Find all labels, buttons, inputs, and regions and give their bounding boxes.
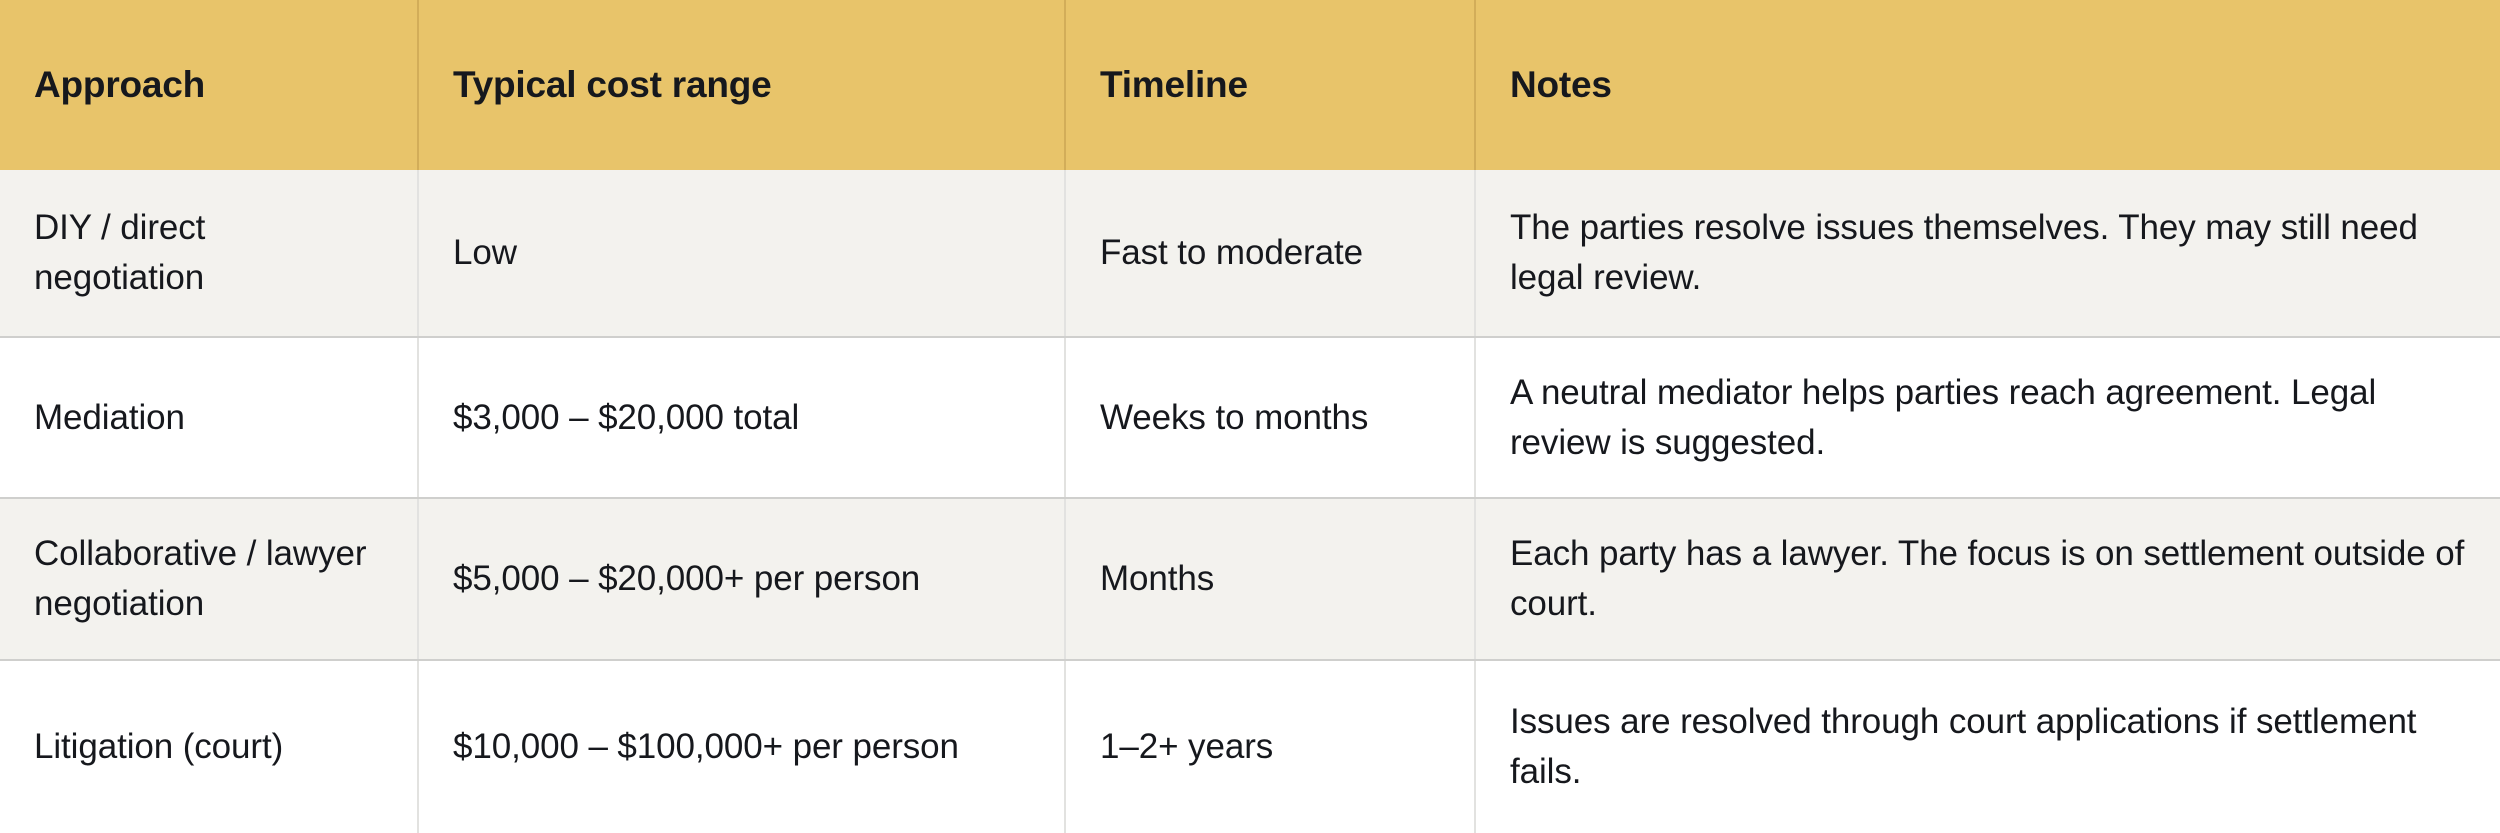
- dispute-resolution-comparison-table: Approach Typical cost range Timeline Not…: [0, 0, 2500, 833]
- table-row: Litigation (court) $10,000 – $100,000+ p…: [0, 660, 2500, 833]
- cell-notes: Issues are resolved through court applic…: [1475, 660, 2500, 833]
- cell-timeline: Fast to moderate: [1065, 170, 1475, 337]
- cell-cost: Low: [418, 170, 1065, 337]
- header-row: Approach Typical cost range Timeline Not…: [0, 0, 2500, 170]
- column-header-timeline: Timeline: [1065, 0, 1475, 170]
- column-header-notes: Notes: [1475, 0, 2500, 170]
- cell-notes: The parties resolve issues themselves. T…: [1475, 170, 2500, 337]
- cell-approach: Collaborative / lawyer negotiation: [0, 498, 418, 660]
- column-header-typical-cost-range: Typical cost range: [418, 0, 1065, 170]
- table-body: DIY / direct negotiation Low Fast to mod…: [0, 170, 2500, 833]
- cell-cost: $5,000 – $20,000+ per person: [418, 498, 1065, 660]
- cell-approach: DIY / direct negotiation: [0, 170, 418, 337]
- table-row: Collaborative / lawyer negotiation $5,00…: [0, 498, 2500, 660]
- table-row: DIY / direct negotiation Low Fast to mod…: [0, 170, 2500, 337]
- cell-timeline: Months: [1065, 498, 1475, 660]
- table-row: Mediation $3,000 – $20,000 total Weeks t…: [0, 337, 2500, 498]
- comparison-table-container: Approach Typical cost range Timeline Not…: [0, 0, 2500, 833]
- column-header-approach: Approach: [0, 0, 418, 170]
- cell-cost: $3,000 – $20,000 total: [418, 337, 1065, 498]
- cell-approach: Litigation (court): [0, 660, 418, 833]
- cell-approach: Mediation: [0, 337, 418, 498]
- cell-notes: A neutral mediator helps parties reach a…: [1475, 337, 2500, 498]
- cell-timeline: 1–2+ years: [1065, 660, 1475, 833]
- cell-timeline: Weeks to months: [1065, 337, 1475, 498]
- cell-cost: $10,000 – $100,000+ per person: [418, 660, 1065, 833]
- table-header: Approach Typical cost range Timeline Not…: [0, 0, 2500, 170]
- cell-notes: Each party has a lawyer. The focus is on…: [1475, 498, 2500, 660]
